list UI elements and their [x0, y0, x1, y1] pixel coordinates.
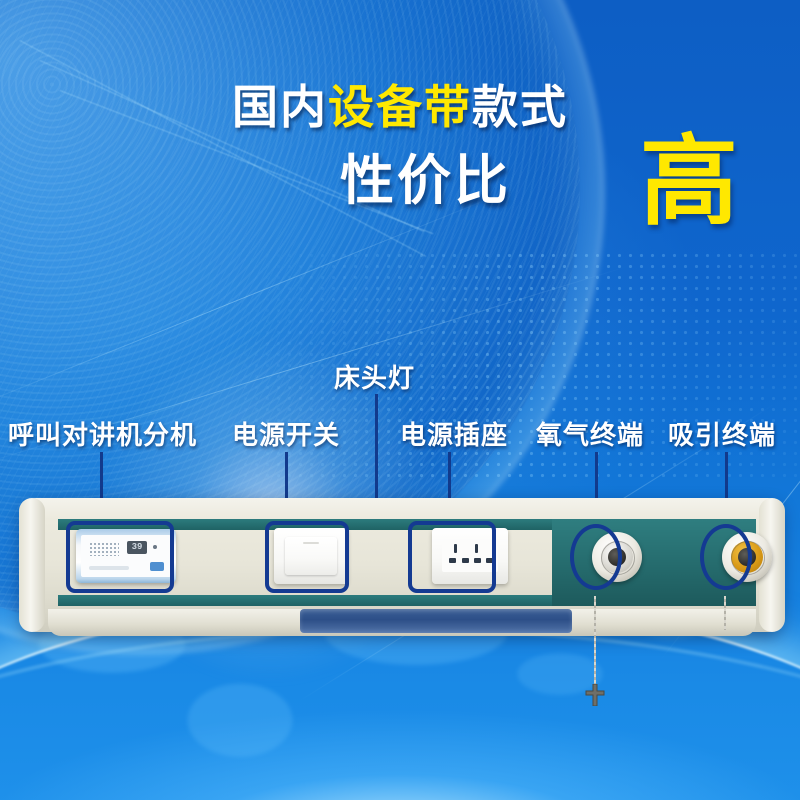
banner-canvas: 国内设备带款式 性价比 高 呼叫对讲机分机 电源开关 床头灯 电源插座 氧气终端…	[0, 0, 800, 800]
bed-lamp-diffuser	[300, 609, 572, 633]
callout-label-suction: 吸引终端	[668, 415, 776, 452]
headline-line-1: 国内设备带款式	[0, 84, 800, 130]
headline-line1-part1: 国内	[232, 81, 328, 133]
callout-label-bedlamp: 床头灯	[334, 358, 415, 395]
highlight-box-intercom	[66, 521, 174, 593]
headline-line-2: 性价比	[340, 154, 511, 208]
headline-line1-part2: 款式	[472, 81, 568, 133]
panel-end-cap-left	[19, 498, 45, 632]
highlight-box-socket	[408, 521, 496, 593]
hanging-cord	[594, 596, 596, 688]
headline-line1-highlight: 设备带	[328, 81, 472, 133]
headline-block: 国内设备带款式 性价比 高	[0, 84, 800, 232]
callout-label-socket: 电源插座	[400, 415, 508, 452]
headline-emphasis-gao: 高	[640, 132, 738, 230]
callout-label-intercom: 呼叫对讲机分机	[8, 415, 197, 452]
cord-cross-weight-icon	[584, 684, 606, 706]
highlight-box-switch	[265, 521, 349, 593]
callout-label-switch: 电源开关	[232, 415, 340, 452]
highlight-circle-oxygen	[570, 524, 622, 590]
callout-label-oxygen: 氧气终端	[536, 415, 644, 452]
bottom-horizon-arc-outer	[0, 628, 800, 800]
headline-line-2-row: 性价比 高	[0, 154, 800, 232]
suction-hanging-cord	[724, 596, 726, 630]
highlight-circle-suction	[700, 524, 752, 590]
